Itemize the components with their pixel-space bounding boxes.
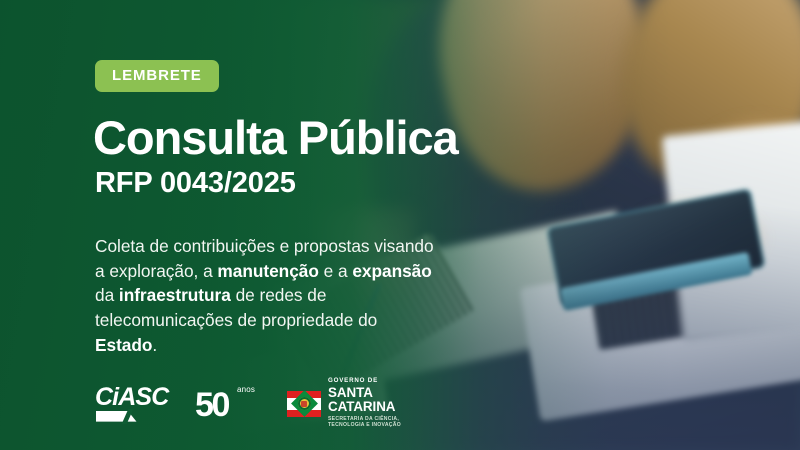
anniversary-number: 50 (195, 388, 228, 422)
government-name-line1: SANTA (328, 386, 414, 400)
page-title: Consulta Pública (93, 114, 458, 163)
government-name-line2: CATARINA (328, 400, 414, 414)
ciasc-wordmark: CiASC (95, 385, 168, 410)
government-department: SECRETARIA DA CIÊNCIA, TECNOLOGIA E INOV… (328, 416, 414, 430)
government-pre-line: GOVERNO DE (328, 378, 414, 384)
ciasc-logo: CiASC (95, 385, 193, 423)
government-wordmark: GOVERNO DE SANTA CATARINA SECRETARIA DA … (328, 378, 414, 429)
page-subtitle: RFP 0043/2025 (95, 168, 296, 200)
flag-coat-of-arms-icon (298, 397, 311, 410)
government-logo: GOVERNO DE SANTA CATARINA SECRETARIA DA … (287, 378, 414, 429)
promotional-banner: LEMBRETE Consulta Pública RFP 0043/2025 … (0, 0, 800, 450)
logo-row: CiASC 50 anos GOVERNO DE SANTA CATARINA (95, 378, 414, 429)
santa-catarina-flag-icon (287, 391, 321, 417)
anniversary-label: anos (237, 386, 255, 394)
banner-description: Coleta de contribuições e propostas visa… (95, 234, 440, 358)
anniversary-mark: 50 anos (195, 385, 257, 423)
banner-content: LEMBRETE Consulta Pública RFP 0043/2025 … (95, 0, 515, 450)
status-badge: LEMBRETE (95, 60, 219, 92)
